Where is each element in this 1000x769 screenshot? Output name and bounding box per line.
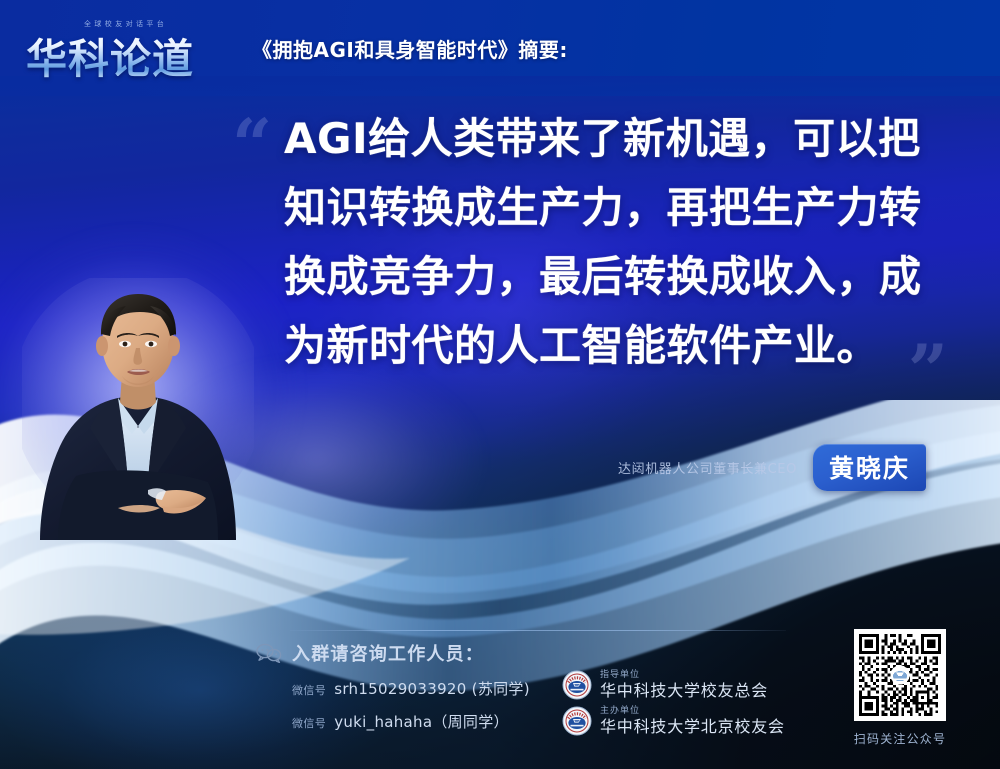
contact-header: 入群请咨询工作人员： [256, 640, 586, 666]
speaker-name-badge: 黄晓庆 [813, 444, 926, 491]
qr-code-icon[interactable] [854, 629, 946, 721]
poster-canvas: 全球校友对话平台 华科论道 《拥抱AGI和具身智能时代》摘要: “ ” AGI给… [0, 0, 1000, 769]
hust-alumni-seal-icon [562, 670, 592, 700]
wechat-icon [256, 643, 282, 663]
organizer-name: 华中科技大学校友总会 [600, 681, 768, 700]
page-title: 《拥抱AGI和具身智能时代》摘要: [252, 34, 568, 63]
contact-row: 微信号 yuki_hahaha（周同学） [292, 711, 586, 732]
quote-close-mark: ” [908, 336, 948, 406]
wechat-id[interactable]: yuki_hahaha（周同学） [334, 711, 509, 732]
speaker-portrait [22, 278, 254, 540]
quote-text: AGI给人类带来了新机遇，可以把 知识转换成生产力，再把生产力转 换成竞争力，最… [284, 104, 944, 380]
brand-name: 华科论道 [26, 25, 194, 85]
qr-section: 扫码关注公众号 [841, 629, 959, 747]
hust-alumni-seal-icon [562, 706, 592, 736]
speaker-attribution: 达闼机器人公司董事长兼CEO 黄晓庆 [618, 444, 926, 491]
organizer-row: 指导单位 华中科技大学校友总会 [562, 670, 785, 700]
organizer-text: 指导单位 华中科技大学校友总会 [600, 670, 768, 700]
organizer-row: 主办单位 华中科技大学北京校友会 [562, 706, 785, 736]
poster-header: 全球校友对话平台 华科论道 《拥抱AGI和具身智能时代》摘要: [0, 0, 1000, 96]
quote-line: AGI给人类带来了新机遇，可以把 [284, 104, 944, 173]
brand-logo[interactable]: 全球校友对话平台 华科论道 [26, 17, 226, 79]
quote-block: “ ” AGI给人类带来了新机遇，可以把 知识转换成生产力，再把生产力转 换成竞… [232, 104, 944, 380]
organizer-kind: 主办单位 [600, 706, 785, 717]
wechat-id[interactable]: srh15029033920 (苏同学) [334, 678, 530, 699]
contact-row: 微信号 srh15029033920 (苏同学) [292, 678, 586, 699]
speaker-role: 达闼机器人公司董事长兼CEO [618, 458, 797, 477]
quote-line: 为新时代的人工智能软件产业。 [284, 311, 944, 380]
organizer-section: 指导单位 华中科技大学校友总会 主办单位 华中科技大学北京校友会 [562, 670, 785, 742]
contact-title: 入群请咨询工作人员： [292, 640, 484, 666]
organizer-text: 主办单位 华中科技大学北京校友会 [600, 706, 785, 736]
wechat-label: 微信号 [292, 715, 326, 731]
quote-open-mark: “ [232, 110, 272, 180]
wechat-label: 微信号 [292, 682, 326, 698]
organizer-kind: 指导单位 [600, 670, 768, 681]
qr-caption: 扫码关注公众号 [841, 730, 959, 747]
footer-divider [290, 630, 786, 631]
quote-line: 换成竞争力，最后转换成收入，成 [284, 242, 944, 311]
contact-section: 入群请咨询工作人员： 微信号 srh15029033920 (苏同学) 微信号 … [256, 640, 586, 732]
quote-line: 知识转换成生产力，再把生产力转 [284, 173, 944, 242]
organizer-name: 华中科技大学北京校友会 [600, 717, 785, 736]
